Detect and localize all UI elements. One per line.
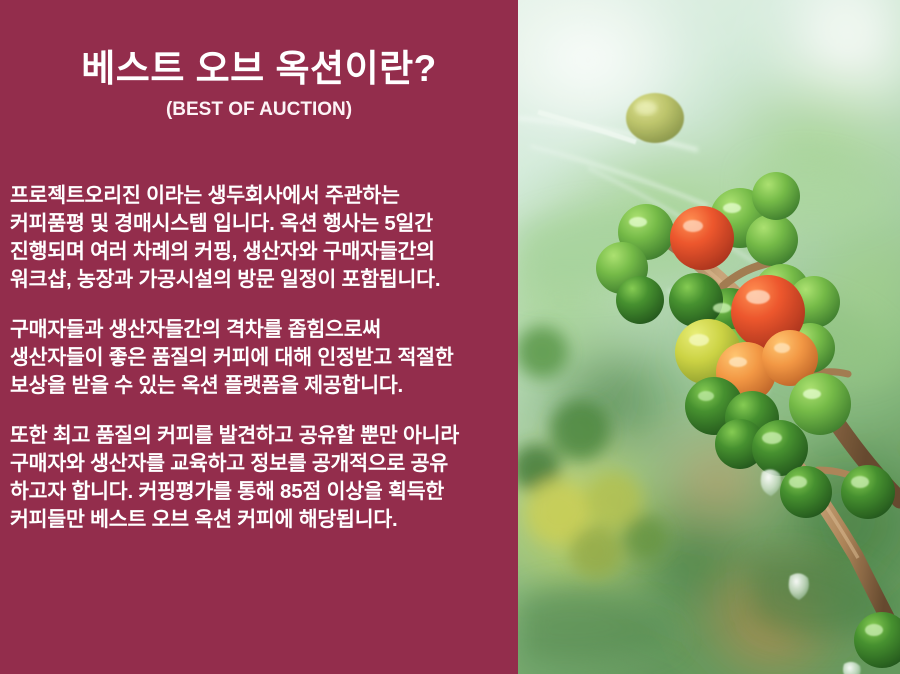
photo-artwork [518,0,900,674]
paragraph-1: 프로젝트오리진 이라는 생두회사에서 주관하는 커피품평 및 경매시스템 입니다… [10,182,510,294]
coffee-cherries-branch-photo [518,0,900,674]
body-copy: 프로젝트오리진 이라는 생두회사에서 주관하는 커피품평 및 경매시스템 입니다… [10,182,510,534]
paragraph-3: 또한 최고 품질의 커피를 발견하고 공유할 뿐만 아니라 구매자와 생산자를 … [10,422,510,534]
slide-root: 베스트 오브 옥션이란? (BEST OF AUCTION) 프로젝트오리진 이… [0,0,900,674]
page-title: 베스트 오브 옥션이란? [0,48,518,91]
text-panel: 베스트 오브 옥션이란? (BEST OF AUCTION) 프로젝트오리진 이… [0,0,518,674]
paragraph-2: 구매자들과 생산자들간의 격차를 좁힘으로써 생산자들이 좋은 품질의 커피에 … [10,316,510,400]
page-subtitle: (BEST OF AUCTION) [0,99,518,121]
